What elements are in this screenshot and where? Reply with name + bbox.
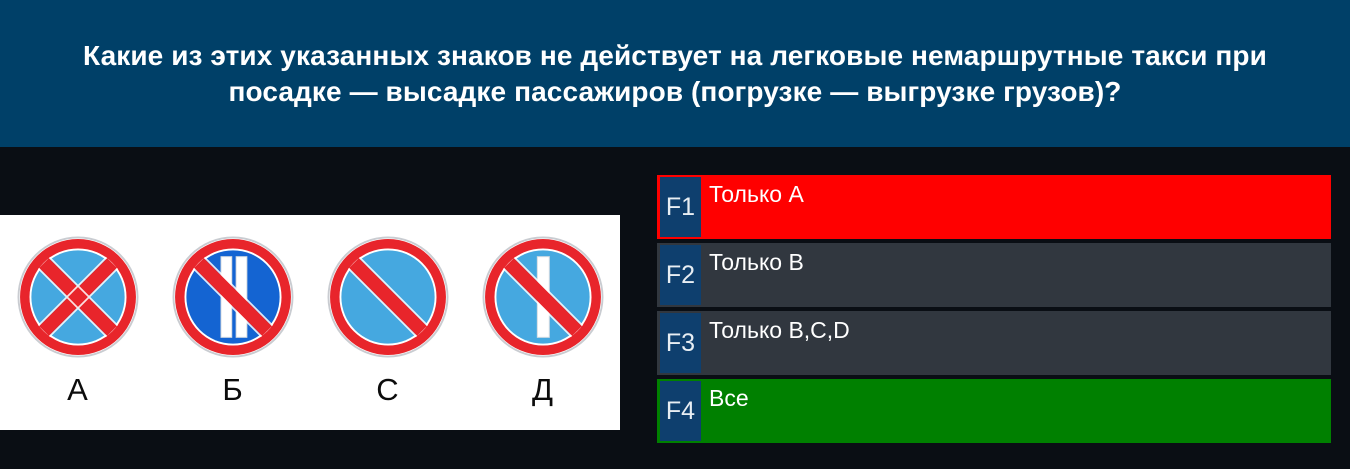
fkey-badge-f2[interactable]: F2 — [660, 245, 701, 305]
sign-item-c — [313, 234, 463, 360]
no-parking-even-days-sign-icon — [170, 234, 296, 360]
sign-label-row: А Б С Д — [0, 367, 620, 412]
answer-label-f4: Все — [709, 384, 749, 412]
fkey-badge-f1[interactable]: F1 — [660, 177, 701, 237]
sign-label-d: Д — [468, 372, 618, 408]
no-parking-sign-icon — [325, 234, 451, 360]
content-area: А Б С Д F1 Только A F2 Только B F3 Тольк… — [0, 147, 1350, 469]
answer-option-f1[interactable]: F1 Только A — [657, 175, 1331, 239]
sign-image-panel: А Б С Д — [0, 215, 620, 430]
answer-option-f4[interactable]: F4 Все — [657, 379, 1331, 443]
answer-options-list: F1 Только A F2 Только B F3 Только B,C,D … — [657, 175, 1331, 447]
fkey-badge-f3[interactable]: F3 — [660, 313, 701, 373]
sign-item-a — [3, 234, 153, 360]
no-parking-odd-days-sign-icon — [480, 234, 606, 360]
sign-item-d — [468, 234, 618, 360]
question-banner: Какие из этих указанных знаков не действ… — [0, 0, 1350, 147]
answer-option-f3[interactable]: F3 Только B,C,D — [657, 311, 1331, 375]
answer-label-f1: Только A — [709, 180, 804, 208]
answer-label-f3: Только B,C,D — [709, 316, 850, 344]
sign-label-b: Б — [158, 372, 308, 408]
answer-option-f2[interactable]: F2 Только B — [657, 243, 1331, 307]
sign-item-b — [158, 234, 308, 360]
answer-label-f2: Только B — [709, 248, 804, 276]
question-text: Какие из этих указанных знаков не действ… — [40, 38, 1310, 110]
sign-row — [0, 227, 620, 367]
sign-label-c: С — [313, 372, 463, 408]
sign-label-a: А — [3, 372, 153, 408]
no-stopping-sign-icon — [15, 234, 141, 360]
fkey-badge-f4[interactable]: F4 — [660, 381, 701, 441]
